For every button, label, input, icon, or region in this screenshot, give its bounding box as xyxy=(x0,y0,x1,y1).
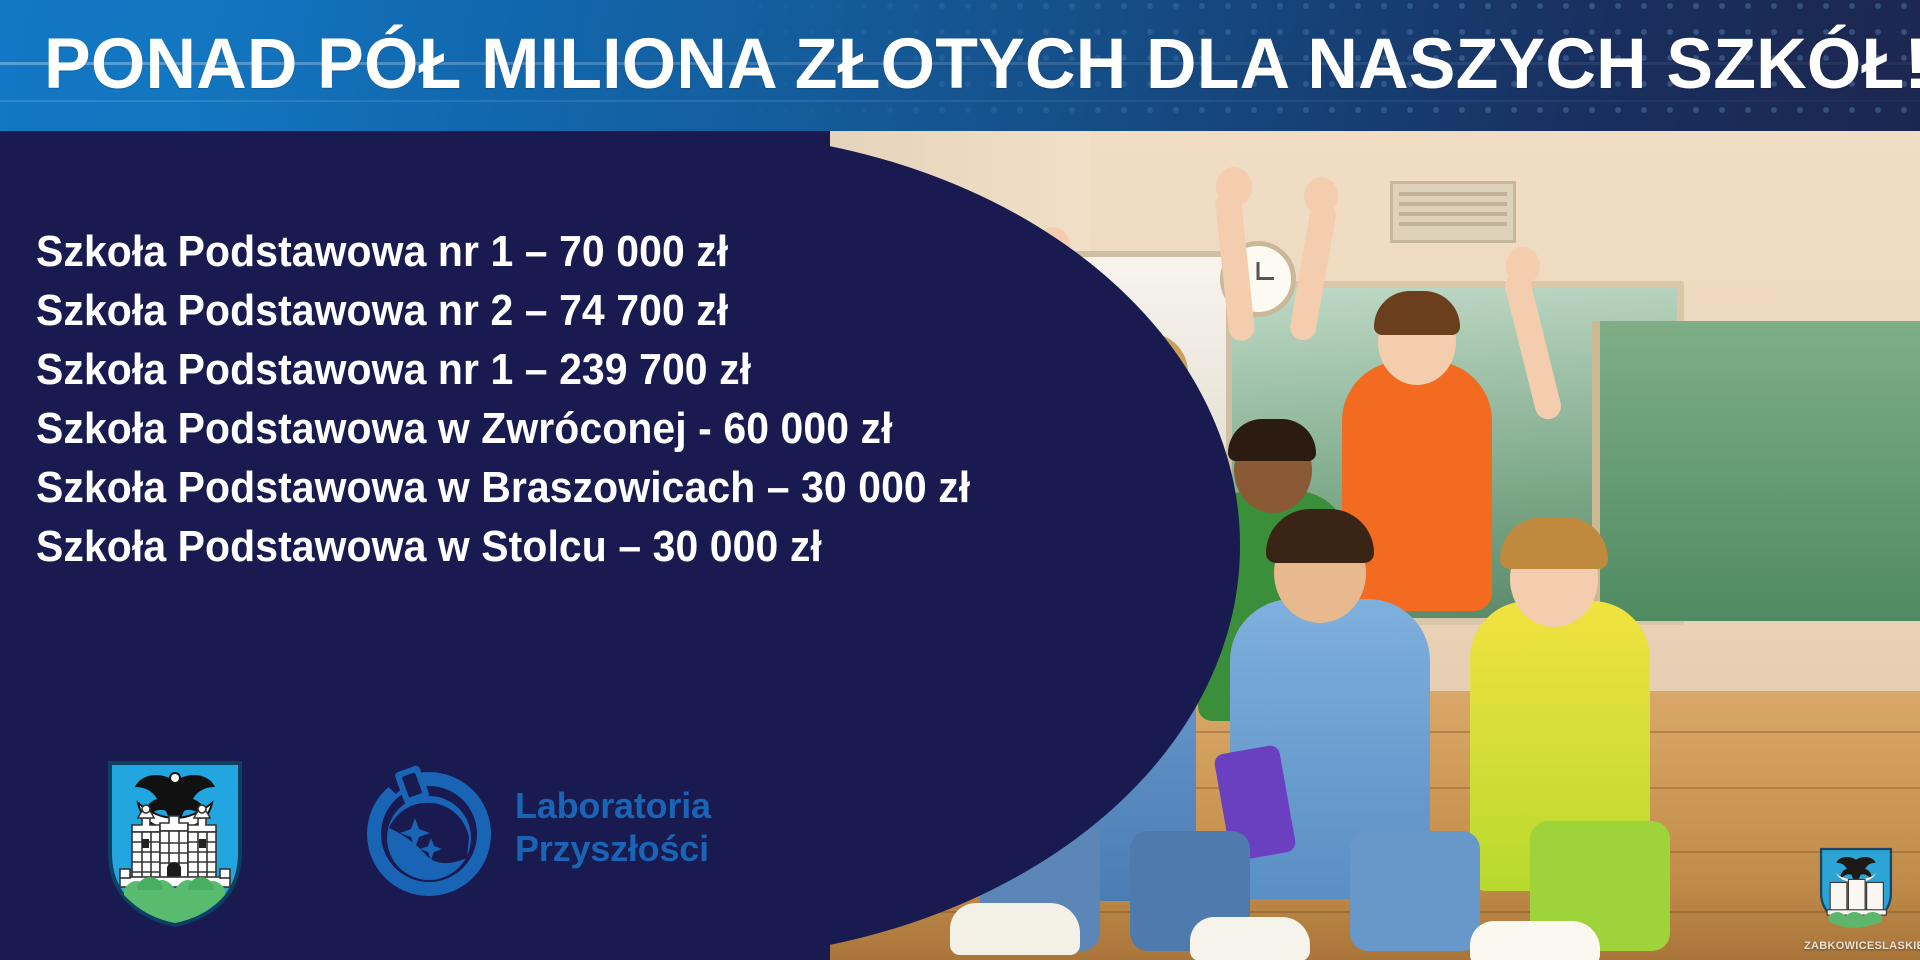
list-item: Szkoła Podstawowa nr 1 – 70 000 zł xyxy=(36,222,966,281)
list-item: Szkoła Podstawowa nr 2 – 74 700 zł xyxy=(36,281,966,340)
banner-root: ZABKOWICESLASKIE.PL Szkoła Podstawowa nr… xyxy=(0,0,1920,960)
laboratoria-line2: Przyszłości xyxy=(515,827,705,870)
watermark-crest-icon xyxy=(1818,846,1894,928)
list-item: Szkoła Podstawowa w Stolcu – 30 000 zł xyxy=(36,517,966,576)
photo-green-board xyxy=(1592,321,1920,621)
laboratoria-line1: Laboratoria xyxy=(515,784,705,827)
list-item: Szkoła Podstawowa nr 1 – 239 700 zł xyxy=(36,340,966,399)
watermark: ZABKOWICESLASKIE.PL xyxy=(1804,846,1908,954)
list-item: Szkoła Podstawowa w Braszowicach – 30 00… xyxy=(36,458,966,517)
page-title: PONAD PÓŁ MILIONA ZŁOTYCH DLA NASZYCH SZ… xyxy=(44,17,1856,113)
list-item: Szkoła Podstawowa w Zwróconej - 60 000 z… xyxy=(36,399,966,458)
laboratoria-wordmark: Laboratoria Przyszłości xyxy=(515,784,705,870)
watermark-text: ZABKOWICESLASKIE.PL xyxy=(1804,940,1908,952)
header-bar: PONAD PÓŁ MILIONA ZŁOTYCH DLA NASZYCH SZ… xyxy=(0,0,1920,131)
school-funding-list: Szkoła Podstawowa nr 1 – 70 000 zł Szkoł… xyxy=(36,222,1036,576)
city-crest-icon xyxy=(104,757,246,929)
flask-circle-icon xyxy=(355,762,503,912)
photo-vent xyxy=(1390,181,1516,243)
laboratoria-przyszlosci-logo: Laboratoria Przyszłości xyxy=(355,758,700,918)
